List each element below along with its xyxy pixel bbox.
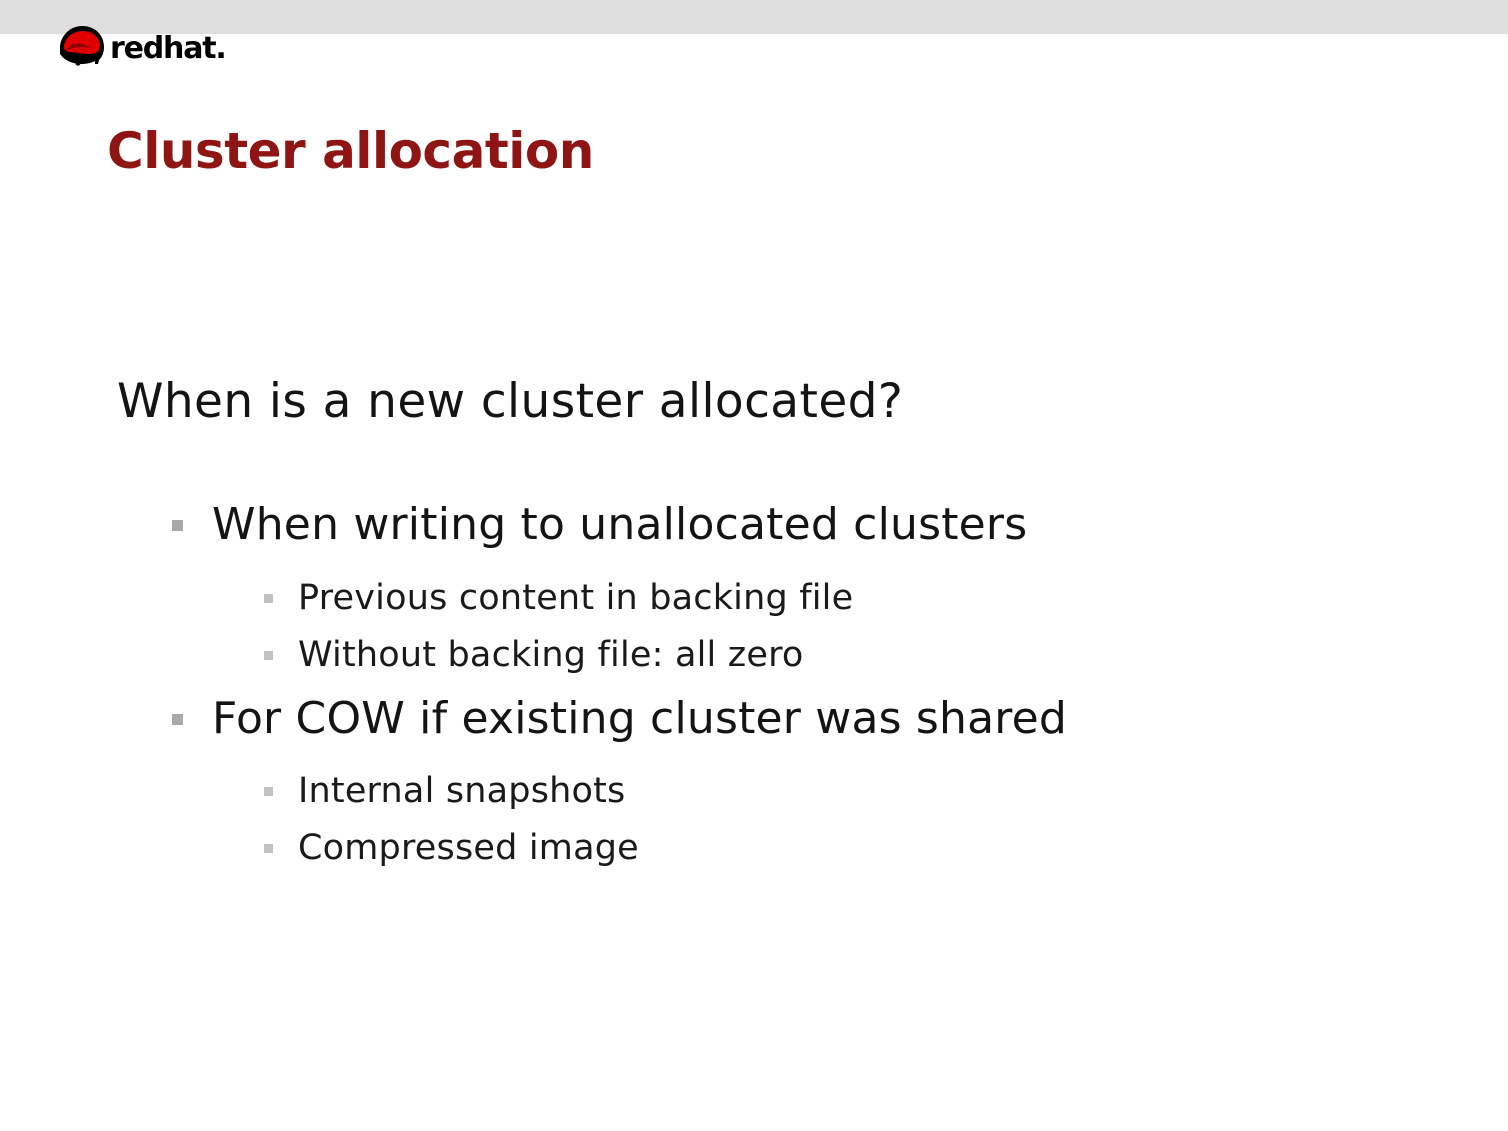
square-bullet-icon — [172, 520, 183, 531]
bullet-level2-label: Previous content in backing file — [298, 576, 853, 620]
bullet-level2-label: Internal snapshots — [298, 769, 626, 813]
lead-question: When is a new cluster allocated? — [117, 373, 903, 431]
bullet-level2-label: Compressed image — [298, 826, 639, 870]
square-bullet-icon — [264, 844, 273, 853]
bullet-level1-label: When writing to unallocated clusters — [212, 498, 1027, 552]
square-bullet-icon — [172, 714, 183, 725]
presentation-slide: redhat. Cluster allocation When is a new… — [0, 0, 1508, 1131]
bullet-level2: Previous content in backing file — [264, 576, 853, 620]
square-bullet-icon — [264, 787, 273, 796]
bullet-level1-label: For COW if existing cluster was shared — [212, 692, 1067, 746]
bullet-level1: When writing to unallocated clusters — [172, 498, 1027, 552]
bullet-level1: For COW if existing cluster was shared — [172, 692, 1067, 746]
bullet-level2-label: Without backing file: all zero — [298, 633, 804, 677]
bullet-level2: Compressed image — [264, 826, 639, 870]
square-bullet-icon — [264, 594, 273, 603]
slide-body: When is a new cluster allocated? When wr… — [0, 0, 1508, 1131]
square-bullet-icon — [264, 651, 273, 660]
bullet-level2: Without backing file: all zero — [264, 633, 804, 677]
bullet-level2: Internal snapshots — [264, 769, 626, 813]
